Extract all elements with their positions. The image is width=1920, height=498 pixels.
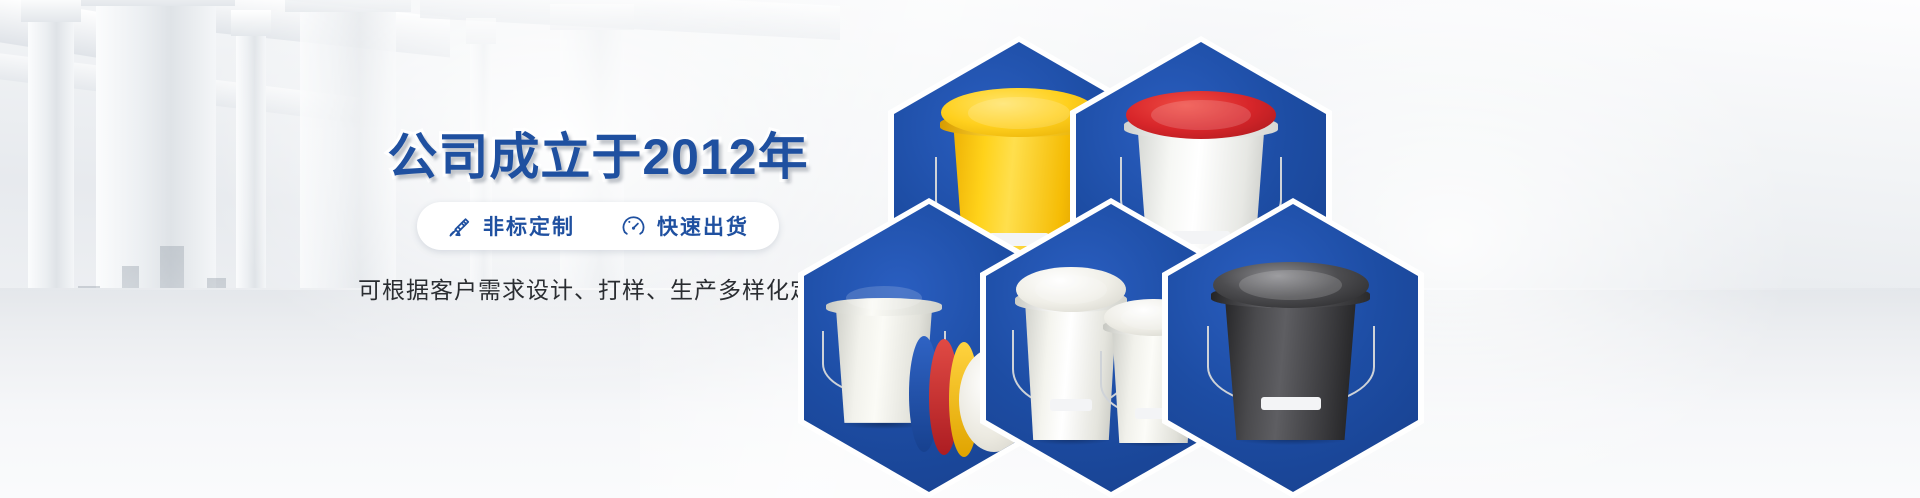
- custom-pen-icon: [447, 214, 472, 239]
- feature-label: 非标定制: [483, 211, 575, 241]
- feature-pill: 非标定制 快速出货: [417, 202, 779, 250]
- gauge-speed-icon: [621, 214, 646, 239]
- feature-item-fast-shipping[interactable]: 快速出货: [621, 211, 749, 241]
- product-hex-cluster: [780, 0, 1920, 498]
- promo-banner: 公司成立于2012年 非标定制: [0, 0, 1920, 498]
- feature-item-custom[interactable]: 非标定制: [447, 211, 575, 241]
- black-bucket-with-lid: [1216, 262, 1366, 441]
- feature-label: 快速出货: [657, 211, 749, 241]
